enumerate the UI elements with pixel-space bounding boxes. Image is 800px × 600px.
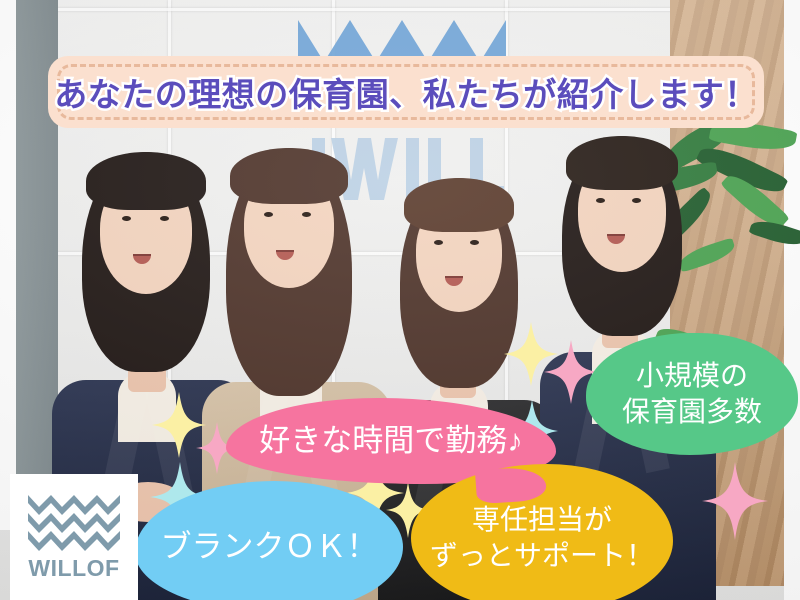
headline-ribbon: あなたの理想の保育園、私たちが紹介します！ — [48, 56, 764, 128]
callout-green-text: 小規模の 保育園多数 — [622, 358, 762, 430]
callout-green: 小規模の 保育園多数 — [586, 333, 798, 455]
willof-chevron-icon — [28, 493, 120, 551]
callout-blue-text: ブランクＯＫ！ — [161, 527, 378, 567]
willof-wordmark: WILLOF — [28, 555, 119, 582]
callout-green-line-2: 保育園多数 — [622, 396, 762, 427]
callout-green-line-1: 小規模の — [636, 360, 748, 391]
callout-yellow-line-1: 専任担当が — [472, 504, 612, 535]
headline-text: あなたの理想の保育園、私たちが紹介します！ — [54, 68, 758, 116]
callout-yellow-text: 専任担当が ずっとサポート！ — [430, 502, 654, 574]
willof-logo-card: WILLOF — [10, 474, 138, 600]
callout-yellow-line-2: ずっとサポート！ — [430, 540, 654, 571]
recruitment-ad-banner: あなたの理想の保育園、私たちが紹介します！ 好きな時間で勤務♪ 小規模の 保育園… — [0, 0, 800, 600]
callout-pink-text: 好きな時間で勤務♪ — [259, 421, 523, 461]
